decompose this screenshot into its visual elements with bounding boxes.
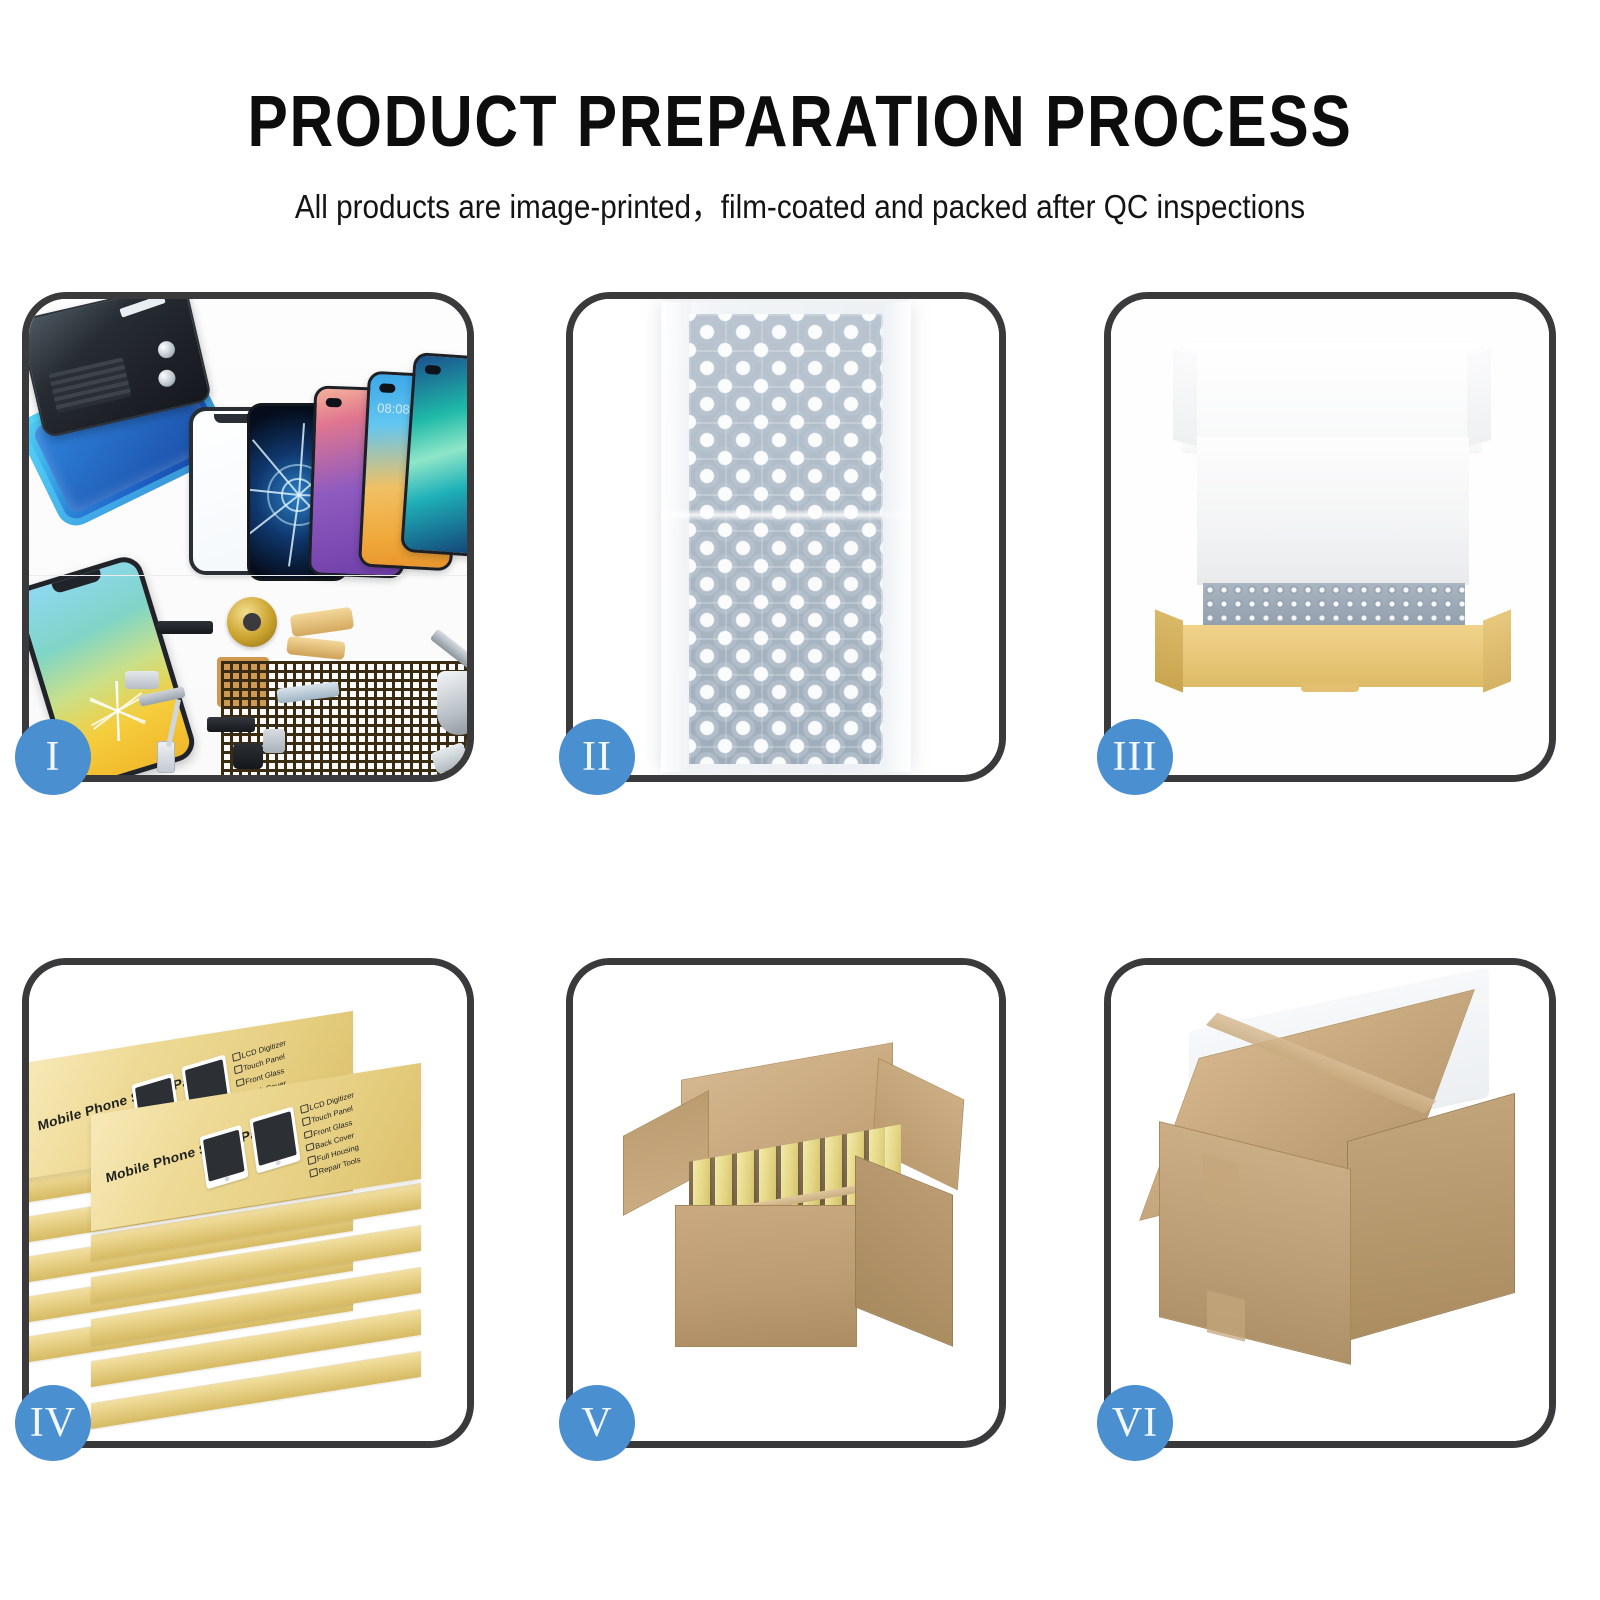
taptic-engine-part bbox=[233, 743, 263, 769]
camera-module-part bbox=[263, 729, 285, 753]
connector-part-2 bbox=[125, 671, 159, 689]
step-panel-2: II bbox=[566, 292, 1006, 782]
box-closure-tab bbox=[1301, 683, 1359, 692]
step-badge-4: IV bbox=[15, 1385, 91, 1461]
box-back-wall bbox=[1197, 437, 1469, 585]
step-badge-6: VI bbox=[1097, 1385, 1173, 1461]
step-6-photo bbox=[1111, 965, 1549, 1441]
step-1-photo: 08:08 bbox=[29, 299, 467, 775]
carton-side-face bbox=[855, 1155, 953, 1347]
step-badge-5: V bbox=[559, 1385, 635, 1461]
carton-front-face bbox=[675, 1205, 857, 1347]
step-panel-3: III bbox=[1104, 292, 1556, 782]
bubble-wrap-texture bbox=[689, 314, 883, 764]
carton-loading-scene bbox=[573, 965, 999, 1441]
open-shipping-carton bbox=[633, 1055, 953, 1355]
box-front-panel bbox=[1177, 625, 1489, 687]
step-panel-6: VI bbox=[1104, 958, 1556, 1448]
step-5-photo bbox=[573, 965, 999, 1441]
step-panel-1: 08:08 bbox=[22, 292, 474, 782]
step-badge-2: II bbox=[559, 719, 635, 795]
step-panel-5: V bbox=[566, 958, 1006, 1448]
step-2-photo bbox=[573, 299, 999, 775]
vibrator-module-part bbox=[207, 717, 255, 732]
flex-cable-part-b bbox=[286, 636, 346, 660]
retail-box-stack-scene: Mobile Phone Spare Parts LCD Digitizer T… bbox=[29, 965, 467, 1441]
step-panel-4: Mobile Phone Spare Parts LCD Digitizer T… bbox=[22, 958, 474, 1448]
step-3-photo bbox=[1111, 299, 1549, 775]
speaker-module-part bbox=[157, 621, 213, 634]
ic-chip-part bbox=[217, 657, 269, 707]
carton-tape-patch-top bbox=[1203, 1155, 1239, 1210]
step-badge-1: I bbox=[15, 719, 91, 795]
spare-parts-scene: 08:08 bbox=[29, 299, 467, 775]
cleaning-brush-part bbox=[437, 671, 467, 735]
bubble-wrapped-product bbox=[661, 302, 911, 772]
step-4-photo: Mobile Phone Spare Parts LCD Digitizer T… bbox=[29, 965, 467, 1441]
flex-cable-part-a bbox=[290, 607, 354, 637]
sealed-shipping-carton bbox=[1145, 1013, 1521, 1365]
sealed-carton-scene bbox=[1111, 965, 1549, 1441]
step-badge-3: III bbox=[1097, 719, 1173, 795]
carton-tape-patch-bottom bbox=[1207, 1290, 1245, 1341]
box-lid-open bbox=[1183, 343, 1481, 451]
bubble-wrap-scene bbox=[573, 299, 999, 775]
retail-box-checklist-front: LCD Digitizer Touch Panel Front Glass Ba… bbox=[300, 1088, 364, 1181]
process-step-grid: 08:08 bbox=[0, 0, 1600, 1600]
inner-box-scene bbox=[1111, 299, 1549, 775]
infographic-page: PRODUCT PREPARATION PROCESS All products… bbox=[0, 0, 1600, 1600]
wireless-charging-coil-part bbox=[227, 597, 277, 647]
